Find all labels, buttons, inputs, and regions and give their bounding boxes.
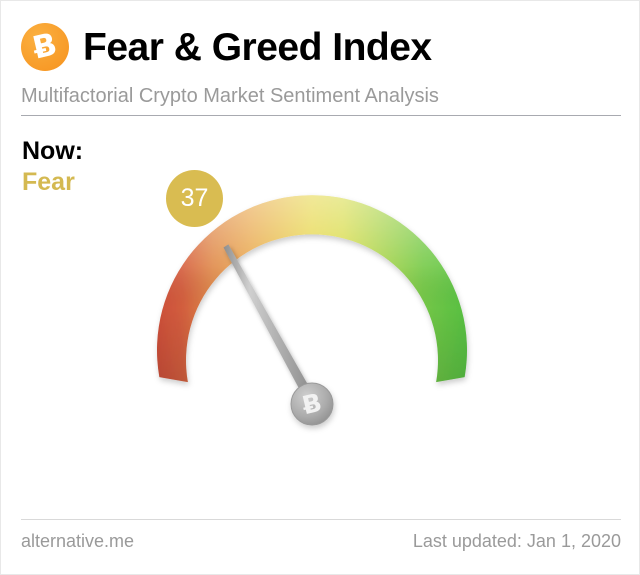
score-badge: 37	[166, 170, 223, 227]
header-divider	[21, 115, 621, 116]
title-row: Ƀ Fear & Greed Index	[21, 19, 621, 75]
bitcoin-icon: Ƀ	[21, 23, 69, 71]
page-subtitle: Multifactorial Crypto Market Sentiment A…	[21, 85, 621, 107]
page-title: Fear & Greed Index	[83, 28, 432, 67]
footer-last-updated: Last updated: Jan 1, 2020	[413, 531, 621, 552]
gauge-needle	[224, 244, 317, 405]
footer: alternative.me Last updated: Jan 1, 2020	[21, 531, 621, 552]
score-badge-value: 37	[181, 186, 209, 211]
bitcoin-logo-glyph: Ƀ	[18, 26, 72, 67]
fear-greed-index-widget: Ƀ Fear & Greed Index Multifactorial Cryp…	[0, 0, 640, 575]
gauge-chart: Ƀ	[1, 161, 640, 511]
gauge-hub: Ƀ	[291, 383, 333, 425]
footer-divider	[21, 519, 621, 520]
gauge-svg: Ƀ	[1, 161, 640, 511]
footer-brand[interactable]: alternative.me	[21, 531, 134, 552]
header: Ƀ Fear & Greed Index Multifactorial Cryp…	[21, 19, 621, 107]
